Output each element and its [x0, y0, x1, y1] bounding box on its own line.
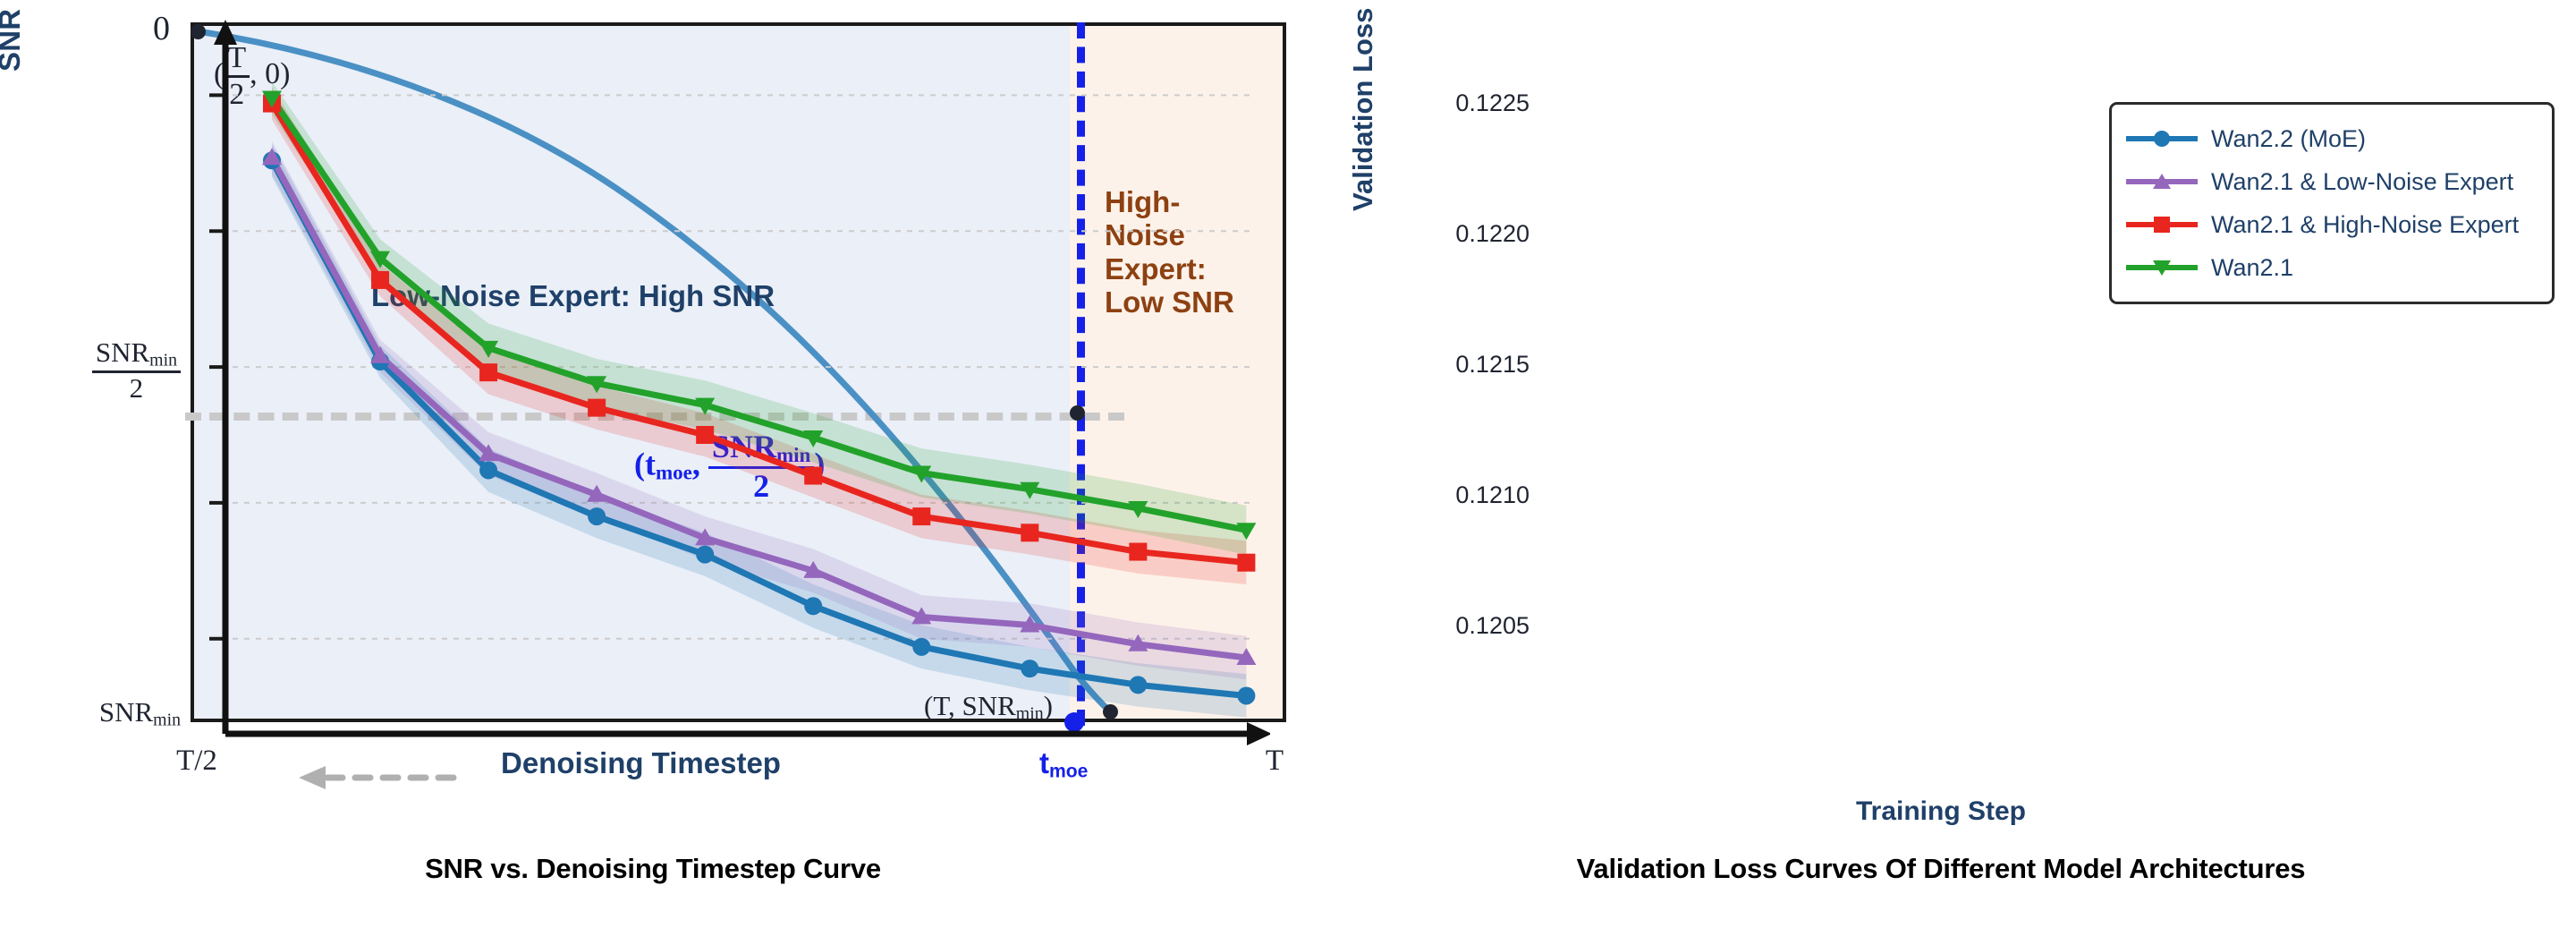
data-point-0-7	[1021, 660, 1038, 677]
data-point-0-5	[804, 597, 822, 615]
legend-item-1[interactable]: Wan2.1 & Low-Noise Expert	[2124, 160, 2538, 203]
data-point-2-8	[1129, 543, 1147, 561]
legend-label-1: Wan2.1 & Low-Noise Expert	[2211, 168, 2513, 196]
legend-label-2: Wan2.1 & High-Noise Expert	[2211, 211, 2519, 239]
legend-item-3[interactable]: Wan2.1	[2124, 246, 2538, 289]
right-chart-caption: Validation Loss Curves Of Different Mode…	[1306, 853, 2576, 885]
right-x-axis-label: Training Step	[1306, 796, 2576, 827]
figure-root: SNR ( log Signal-to-Noise Ratio ) 0 SNRm…	[0, 0, 2576, 928]
data-point-0-6	[912, 638, 930, 656]
legend-key-square-icon	[2124, 213, 2199, 236]
right-chart-legend: Wan2.2 (MoE) Wan2.1 & Low-Noise Expert W…	[2109, 102, 2555, 304]
data-point-2-1	[371, 271, 389, 289]
legend-label-0: Wan2.2 (MoE)	[2211, 125, 2366, 153]
legend-key-triangle-up-icon	[2124, 170, 2199, 193]
right-y-axis-label: Validation Loss	[1347, 0, 1379, 211]
data-point-2-2	[479, 363, 497, 381]
data-point-2-5	[804, 467, 822, 485]
right-y-tick-2: 0.1215	[1395, 351, 1529, 379]
x-axis-arrowhead	[1247, 722, 1270, 745]
legend-item-0[interactable]: Wan2.2 (MoE)	[2124, 117, 2538, 160]
left-chart-caption: SNR vs. Denoising Timestep Curve	[0, 853, 1306, 885]
legend-key-triangle-down-icon	[2124, 256, 2199, 279]
legend-label-3: Wan2.1	[2211, 254, 2293, 282]
legend-item-2[interactable]: Wan2.1 & High-Noise Expert	[2124, 203, 2538, 246]
data-point-2-7	[1021, 524, 1038, 541]
data-point-0-3	[588, 507, 606, 525]
data-point-0-4	[696, 546, 714, 564]
data-point-0-2	[479, 461, 497, 479]
data-point-2-9	[1237, 554, 1255, 572]
data-point-0-8	[1129, 676, 1147, 694]
right-y-tick-3: 0.1210	[1395, 481, 1529, 509]
right-y-tick-1: 0.1220	[1395, 220, 1529, 248]
right-y-tick-4: 0.1205	[1395, 612, 1529, 640]
data-point-0-9	[1237, 686, 1255, 704]
data-point-2-6	[912, 507, 930, 525]
right-y-tick-0: 0.1225	[1395, 89, 1529, 117]
legend-key-circle-icon	[2124, 127, 2199, 150]
y-axis-arrowhead	[214, 20, 237, 45]
data-point-2-4	[696, 426, 714, 444]
data-point-2-3	[588, 399, 606, 417]
validation-loss-plot-svg	[0, 0, 1270, 805]
